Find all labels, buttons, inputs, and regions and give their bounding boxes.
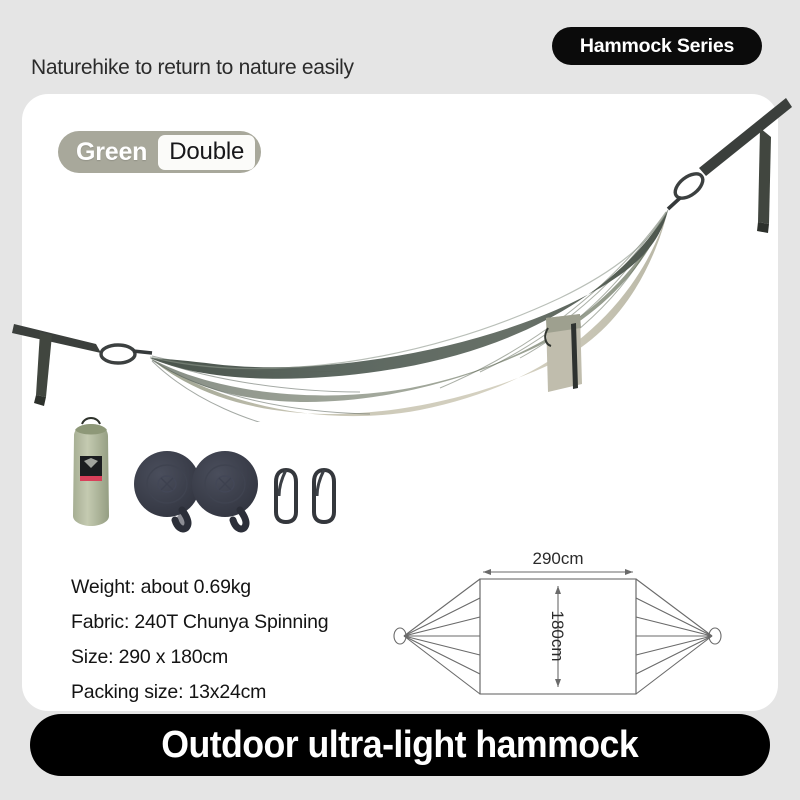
page-tagline: Naturehike to return to nature easily (31, 56, 354, 80)
diagram-width-label: 290cm (532, 549, 583, 568)
carabiner-1 (276, 470, 296, 522)
bottom-banner: Outdoor ultra-light hammock (30, 714, 770, 776)
spec-size: Size: 290 x 180cm (71, 640, 411, 675)
right-suspension-strap (668, 98, 792, 233)
dimension-diagram: 290cm 180cm (392, 548, 752, 708)
carabiner-2 (314, 470, 334, 522)
accessories-row (62, 408, 352, 533)
series-badge: Hammock Series (552, 27, 762, 65)
tree-strap-coil-1 (134, 451, 200, 529)
series-badge-label: Hammock Series (580, 35, 734, 58)
tree-strap-coil-2 (192, 451, 258, 529)
left-suspension-strap (12, 324, 152, 406)
hammock-illustration (0, 92, 800, 422)
stuff-sack (73, 418, 109, 526)
bottom-banner-text: Outdoor ultra-light hammock (162, 724, 639, 767)
hammock-attached-pocket (545, 314, 582, 392)
diagram-width-arrow (483, 569, 633, 575)
specification-list: Weight: about 0.69kg Fabric: 240T Chunya… (71, 570, 411, 710)
diagram-left-fan (404, 579, 480, 694)
spec-weight: Weight: about 0.69kg (71, 570, 411, 605)
page-header: Hammock Series Naturehike to return to n… (0, 0, 800, 95)
diagram-height-label: 180cm (548, 610, 567, 661)
diagram-right-fan (636, 579, 712, 694)
spec-fabric: Fabric: 240T Chunya Spinning (71, 605, 411, 640)
spec-packing-size: Packing size: 13x24cm (71, 675, 411, 710)
